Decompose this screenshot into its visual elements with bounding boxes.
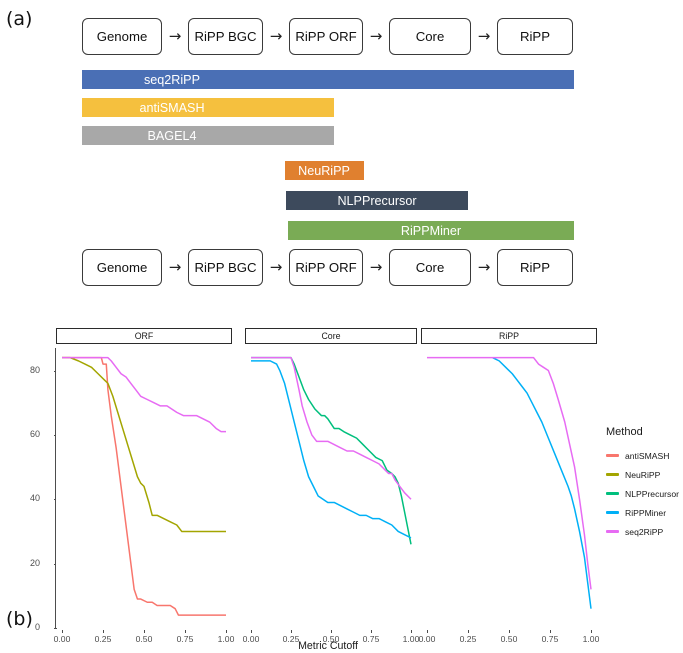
pipeline-top-step-core: Core (389, 18, 471, 55)
x-axis-ticks-ripp: 0.000.250.500.751.00 (421, 630, 597, 644)
y-tick-mark (54, 628, 57, 629)
legend-color-swatch (606, 473, 619, 475)
x-tick-mark (144, 630, 145, 633)
arrow-right-icon: → (263, 29, 289, 44)
x-tick-mark (411, 630, 412, 633)
legend-item-rippminer[interactable]: RiPPMiner (606, 504, 683, 521)
pipeline-bottom: Genome → RiPP BGC → RiPP ORF → Core → Ri… (82, 248, 574, 286)
facet-strip-label-orf: ORF (56, 328, 232, 344)
series-line-nlpprecursor (251, 358, 411, 545)
legend-item-antismash[interactable]: antiSMASH (606, 447, 683, 464)
arrow-right-icon: → (363, 29, 389, 44)
pipeline-bottom-step-ripp: RiPP (497, 249, 573, 286)
panel-b-performance-chart: (b) Number of BGCs Scoring Above Cutoff … (0, 300, 683, 653)
x-tick-mark (226, 630, 227, 633)
tool-coverage-bar-bagel4: BAGEL4 (82, 126, 334, 145)
series-line-seq2ripp (62, 358, 226, 432)
x-axis-ticks-core: 0.000.250.500.751.00 (245, 630, 417, 644)
facet-plot-area-core (245, 348, 417, 628)
tool-coverage-bar-neuripp: NeuRiPP (285, 161, 364, 180)
pipeline-bottom-step-ripp-orf: RiPP ORF (289, 249, 363, 286)
legend-label: NeuRiPP (625, 470, 660, 480)
legend-title: Method (606, 426, 683, 438)
series-line-rippminer (251, 361, 411, 538)
legend-color-swatch (606, 454, 619, 456)
legend-item-nlpprecursor[interactable]: NLPPrecursor (606, 485, 683, 502)
x-tick-label: 0.25 (283, 634, 300, 644)
y-axis-ticks: 020406080 (14, 300, 40, 653)
legend-label: RiPPMiner (625, 508, 666, 518)
x-tick-mark (62, 630, 63, 633)
legend-color-swatch (606, 511, 619, 513)
tool-name-label: BAGEL4 (147, 129, 196, 143)
x-tick-label: 0.75 (177, 634, 194, 644)
pipeline-top-step-ripp-orf: RiPP ORF (289, 18, 363, 55)
x-tick-mark (371, 630, 372, 633)
x-tick-label: 0.00 (419, 634, 436, 644)
tool-coverage-bar-rippminer: RiPPMiner (288, 221, 574, 240)
arrow-right-icon: → (471, 260, 497, 275)
tool-coverage-bar-seq2ripp: seq2RiPP (82, 70, 574, 89)
legend-item-neuripp[interactable]: NeuRiPP (606, 466, 683, 483)
chart-legend: Method antiSMASHNeuRiPPNLPPrecursorRiPPM… (606, 426, 683, 542)
x-tick-label: 0.75 (542, 634, 559, 644)
facet-strip-label-core: Core (245, 328, 417, 344)
y-tick-label: 0 (18, 622, 40, 632)
x-tick-mark (103, 630, 104, 633)
facet-plot-area-orf (56, 348, 232, 628)
x-tick-mark (185, 630, 186, 633)
tool-name-label: RiPPMiner (401, 224, 461, 238)
arrow-right-icon: → (263, 260, 289, 275)
series-line-rippminer (493, 358, 591, 609)
legend-item-seq2ripp[interactable]: seq2RiPP (606, 523, 683, 540)
pipeline-bottom-step-genome: Genome (82, 249, 162, 286)
legend-items: antiSMASHNeuRiPPNLPPrecursorRiPPMinerseq… (606, 447, 683, 540)
pipeline-top-step-ripp: RiPP (497, 18, 573, 55)
legend-label: seq2RiPP (625, 527, 663, 537)
tool-name-label: antiSMASH (139, 101, 204, 115)
x-tick-label: 0.50 (323, 634, 340, 644)
tool-name-label: NLPPrecursor (337, 194, 416, 208)
series-line-neuripp (62, 358, 226, 532)
legend-color-swatch (606, 530, 619, 532)
x-tick-label: 0.25 (95, 634, 112, 644)
legend-label: antiSMASH (625, 451, 669, 461)
y-tick-label: 60 (18, 429, 40, 439)
x-tick-label: 1.00 (218, 634, 235, 644)
tool-coverage-bar-antismash: antiSMASH (82, 98, 334, 117)
x-axis-ticks-orf: 0.000.250.500.751.00 (56, 630, 232, 644)
arrow-right-icon: → (471, 29, 497, 44)
arrow-right-icon: → (162, 29, 188, 44)
y-tick-label: 40 (18, 493, 40, 503)
pipeline-top-step-genome: Genome (82, 18, 162, 55)
x-tick-label: 1.00 (403, 634, 420, 644)
pipeline-bottom-step-ripp-bgc: RiPP BGC (188, 249, 263, 286)
panel-a-label: (a) (6, 8, 32, 30)
x-tick-mark (468, 630, 469, 633)
facet-plot-area-ripp (421, 348, 597, 628)
x-tick-mark (291, 630, 292, 633)
legend-label: NLPPrecursor (625, 489, 679, 499)
panel-a-pipeline-diagram: (a) Genome → RiPP BGC → RiPP ORF → Core … (0, 0, 683, 300)
x-tick-label: 0.50 (501, 634, 518, 644)
x-tick-label: 1.00 (583, 634, 600, 644)
tool-name-label: seq2RiPP (144, 73, 200, 87)
series-line-seq2ripp (427, 358, 591, 590)
tool-coverage-bar-nlpprecursor: NLPPrecursor (286, 191, 468, 210)
pipeline-top-step-ripp-bgc: RiPP BGC (188, 18, 263, 55)
x-tick-mark (251, 630, 252, 633)
x-tick-label: 0.00 (54, 634, 71, 644)
tool-name-label: NeuRiPP (298, 164, 350, 178)
x-tick-label: 0.50 (136, 634, 153, 644)
series-line-seq2ripp (251, 358, 411, 500)
x-tick-mark (331, 630, 332, 633)
x-tick-mark (591, 630, 592, 633)
x-tick-mark (427, 630, 428, 633)
y-axis-line (55, 348, 56, 628)
x-tick-mark (509, 630, 510, 633)
pipeline-bottom-step-core: Core (389, 249, 471, 286)
x-tick-label: 0.25 (460, 634, 477, 644)
pipeline-top: Genome → RiPP BGC → RiPP ORF → Core → Ri… (82, 17, 574, 55)
arrow-right-icon: → (363, 260, 389, 275)
y-tick-label: 20 (18, 558, 40, 568)
x-tick-label: 0.75 (363, 634, 380, 644)
facet-strip-label-ripp: RiPP (421, 328, 597, 344)
arrow-right-icon: → (162, 260, 188, 275)
x-tick-label: 0.00 (243, 634, 260, 644)
legend-color-swatch (606, 492, 619, 494)
y-tick-label: 80 (18, 365, 40, 375)
x-tick-mark (550, 630, 551, 633)
